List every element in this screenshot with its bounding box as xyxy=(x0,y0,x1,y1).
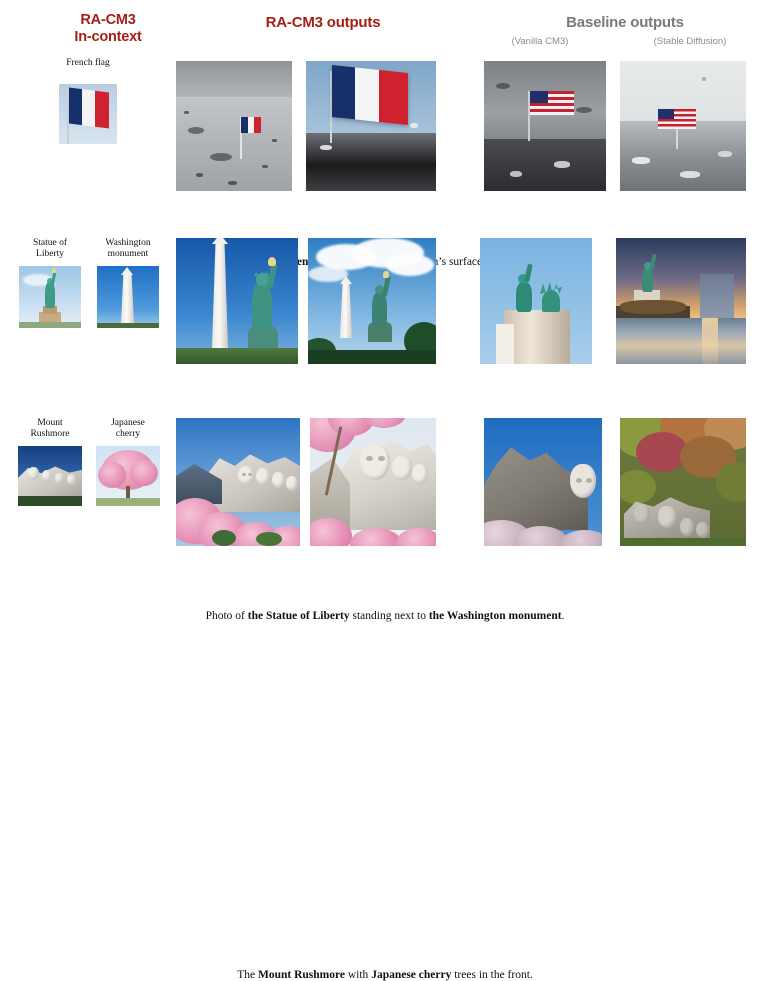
caption-row-rushmore-cherry: The Mount Rushmore with Japanese cherry … xyxy=(0,969,770,981)
header-sub-stable-diffusion: (Stable Diffusion) xyxy=(620,36,760,47)
rushmore-with-pink-cherry-blossoms-wide xyxy=(176,418,300,546)
incontext-label-statue-line1: Statue of xyxy=(16,238,84,249)
caption-bold-3: the Washington monument xyxy=(429,610,562,622)
caption-text-4: trees in the front. xyxy=(451,969,532,981)
figure-panel: RA-CM3 In-context RA-CM3 outputs Baselin… xyxy=(0,0,770,573)
incontext-label-statue-of-liberty: Statue of Liberty xyxy=(16,238,84,260)
incontext-label-monument-line2: monument xyxy=(90,249,166,260)
incontext-label-rushmore-line2: Rushmore xyxy=(16,429,84,440)
american-flag-on-moon-stable-diffusion xyxy=(620,61,746,191)
caption-text-0: Photo of xyxy=(206,610,248,622)
incontext-item-washington-monument[interactable]: Washington monument xyxy=(90,238,166,328)
american-flag-on-moon-vanilla-cm3 xyxy=(484,61,606,191)
caption-text-2: with xyxy=(345,969,371,981)
incontext-label-monument-line1: Washington xyxy=(90,238,166,249)
french-flag-photo xyxy=(59,84,117,144)
monument-and-statue-with-clouds xyxy=(308,238,436,364)
incontext-item-mount-rushmore[interactable]: Mount Rushmore xyxy=(16,418,84,506)
row-rushmore-cherry: Mount Rushmore Japanese xyxy=(0,418,770,568)
incontext-item-french-flag[interactable]: French flag xyxy=(38,58,138,144)
header-racm3-outputs: RA-CM3 outputs xyxy=(228,14,418,31)
incontext-group-row1: French flag xyxy=(8,58,168,188)
header-baseline-outputs: Baseline outputs xyxy=(500,14,750,31)
rocky-cliff-with-blossoms-vanilla-cm3 xyxy=(484,418,602,546)
incontext-label-statue-line2: Liberty xyxy=(16,249,84,260)
statue-of-liberty-photo xyxy=(19,266,81,328)
incontext-label-mount-rushmore: Mount Rushmore xyxy=(16,418,84,440)
caption-text-2: standing next to xyxy=(350,610,429,622)
washington-monument-photo xyxy=(97,266,159,328)
incontext-label-rushmore-line1: Mount xyxy=(16,418,84,429)
header-incontext: RA-CM3 In-context xyxy=(28,12,188,45)
caption-bold-3: Japanese cherry xyxy=(371,969,451,981)
monument-and-statue-close-up xyxy=(176,238,298,364)
incontext-label-cherry-line2: cherry xyxy=(90,429,166,440)
mount-rushmore-photo xyxy=(18,446,82,506)
rushmore-with-cherry-branches-close xyxy=(310,418,436,546)
moon-surface-with-small-french-flag xyxy=(176,61,292,191)
japanese-cherry-tree-photo xyxy=(96,446,160,506)
caption-text-0: The xyxy=(237,969,258,981)
rushmore-autumn-foliage-stable-diffusion xyxy=(620,418,746,546)
row-statue-monument: Statue of Liberty xyxy=(0,238,770,388)
incontext-group-row2: Statue of Liberty xyxy=(8,238,168,368)
incontext-label-french-flag: French flag xyxy=(38,58,138,70)
large-french-flag-over-lunar-terrain xyxy=(306,61,436,191)
header-incontext-line1: RA-CM3 xyxy=(28,12,188,29)
incontext-label-washington-monument: Washington monument xyxy=(90,238,166,260)
caption-bold-1: Mount Rushmore xyxy=(258,969,345,981)
incontext-item-japanese-cherry[interactable]: Japanese cherry xyxy=(90,418,166,506)
incontext-item-statue-of-liberty[interactable]: Statue of Liberty xyxy=(16,238,84,328)
statue-harbor-sunset-stable-diffusion xyxy=(616,238,746,364)
header-sub-vanilla-cm3: (Vanilla CM3) xyxy=(480,36,600,47)
caption-text-4: . xyxy=(562,610,565,622)
distorted-statue-on-pedestal-vanilla-cm3 xyxy=(480,238,592,364)
caption-row-statue-monument: Photo of the Statue of Liberty standing … xyxy=(0,610,770,622)
caption-bold-1: the Statue of Liberty xyxy=(248,610,350,622)
incontext-group-row3: Mount Rushmore Japanese xyxy=(8,418,168,548)
header-incontext-line2: In-context xyxy=(28,29,188,46)
row-french-flag: French flag xyxy=(0,58,770,208)
incontext-label-japanese-cherry: Japanese cherry xyxy=(90,418,166,440)
incontext-label-cherry-line1: Japanese xyxy=(90,418,166,429)
